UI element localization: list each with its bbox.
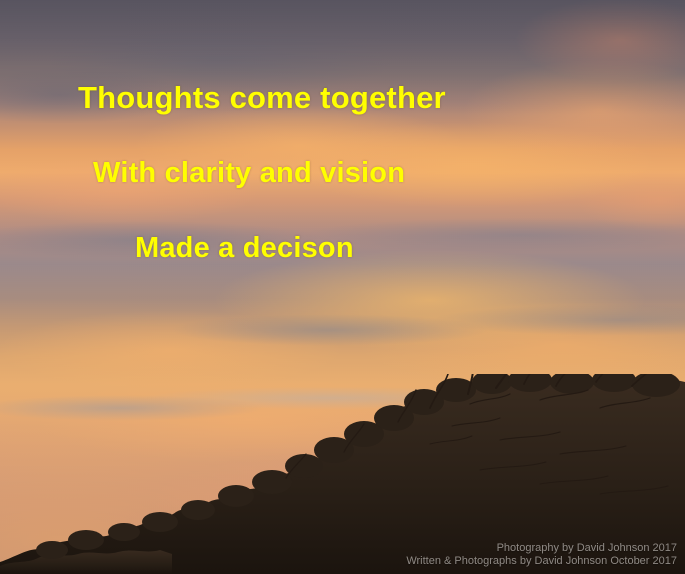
photo-canvas: Thoughts come together With clarity and … — [0, 0, 685, 574]
credit-watermark: Photography by David Johnson 2017 Writte… — [406, 542, 677, 568]
credit-line-2: Written & Photographs by David Johnson O… — [406, 555, 677, 568]
poem-line-3: Made a decison — [135, 232, 354, 265]
credit-line-1: Photography by David Johnson 2017 — [406, 542, 677, 555]
poem-line-1: Thoughts come together — [78, 80, 446, 116]
poem-line-2: With clarity and vision — [93, 157, 405, 190]
